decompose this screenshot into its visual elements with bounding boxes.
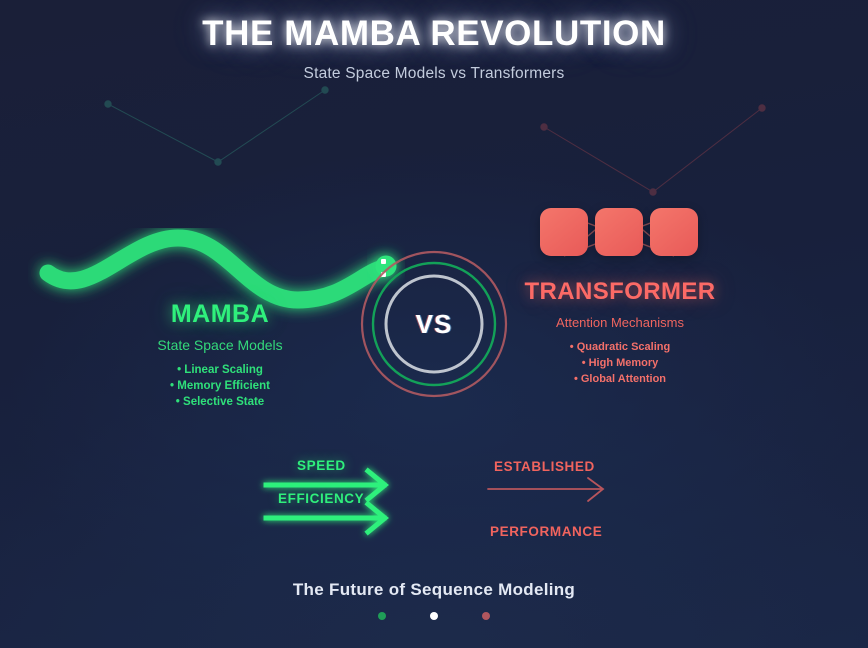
mamba-subtitle: State Space Models xyxy=(130,337,310,353)
footer-tagline: The Future of Sequence Modeling xyxy=(0,580,868,600)
footer: The Future of Sequence Modeling xyxy=(0,580,868,620)
transformer-block-1 xyxy=(540,208,588,256)
transformer-subtitle: Attention Mechanisms xyxy=(522,315,718,330)
arrow-label-established: ESTABLISHED xyxy=(494,459,595,474)
arrow-graphics xyxy=(0,440,868,560)
versus-label: VS xyxy=(358,248,510,400)
arrow-label-speed: SPEED xyxy=(297,458,346,473)
mamba-feature-list: • Linear Scaling • Memory Efficient • Se… xyxy=(130,362,310,410)
mamba-title: MAMBA xyxy=(130,300,310,329)
versus-badge: VS xyxy=(358,248,510,400)
transformer-block-3 xyxy=(650,208,698,256)
arrow-label-performance: PERFORMANCE xyxy=(490,524,602,539)
dot-indicator-2[interactable] xyxy=(430,612,438,620)
arrow-label-efficiency: EFFICIENCY xyxy=(278,491,364,506)
list-item: • Memory Efficient xyxy=(130,378,310,394)
transformer-block-2 xyxy=(595,208,643,256)
slide-indicator-dots[interactable] xyxy=(0,612,868,620)
comparison-arrows: SPEED EFFICIENCY ESTABLISHED PERFORMANCE xyxy=(0,440,868,560)
page-title: THE MAMBA REVOLUTION xyxy=(0,14,868,54)
list-item: • Global Attention xyxy=(522,371,718,387)
transformer-feature-list: • Quadratic Scaling • High Memory • Glob… xyxy=(522,339,718,387)
page-subtitle: State Space Models vs Transformers xyxy=(0,65,868,83)
transformer-blocks-graphic xyxy=(534,202,704,264)
slide-canvas: THE MAMBA REVOLUTION State Space Models … xyxy=(0,0,868,648)
list-item: • Linear Scaling xyxy=(130,362,310,378)
list-item: • High Memory xyxy=(522,355,718,371)
transformer-title: TRANSFORMER xyxy=(522,278,718,306)
header: THE MAMBA REVOLUTION State Space Models … xyxy=(0,14,868,83)
dot-indicator-1[interactable] xyxy=(378,612,386,620)
list-item: • Quadratic Scaling xyxy=(522,339,718,355)
dot-indicator-3[interactable] xyxy=(482,612,490,620)
list-item: • Selective State xyxy=(130,394,310,410)
transformer-panel: TRANSFORMER Attention Mechanisms • Quadr… xyxy=(522,278,718,387)
mamba-panel: MAMBA State Space Models • Linear Scalin… xyxy=(130,300,310,410)
